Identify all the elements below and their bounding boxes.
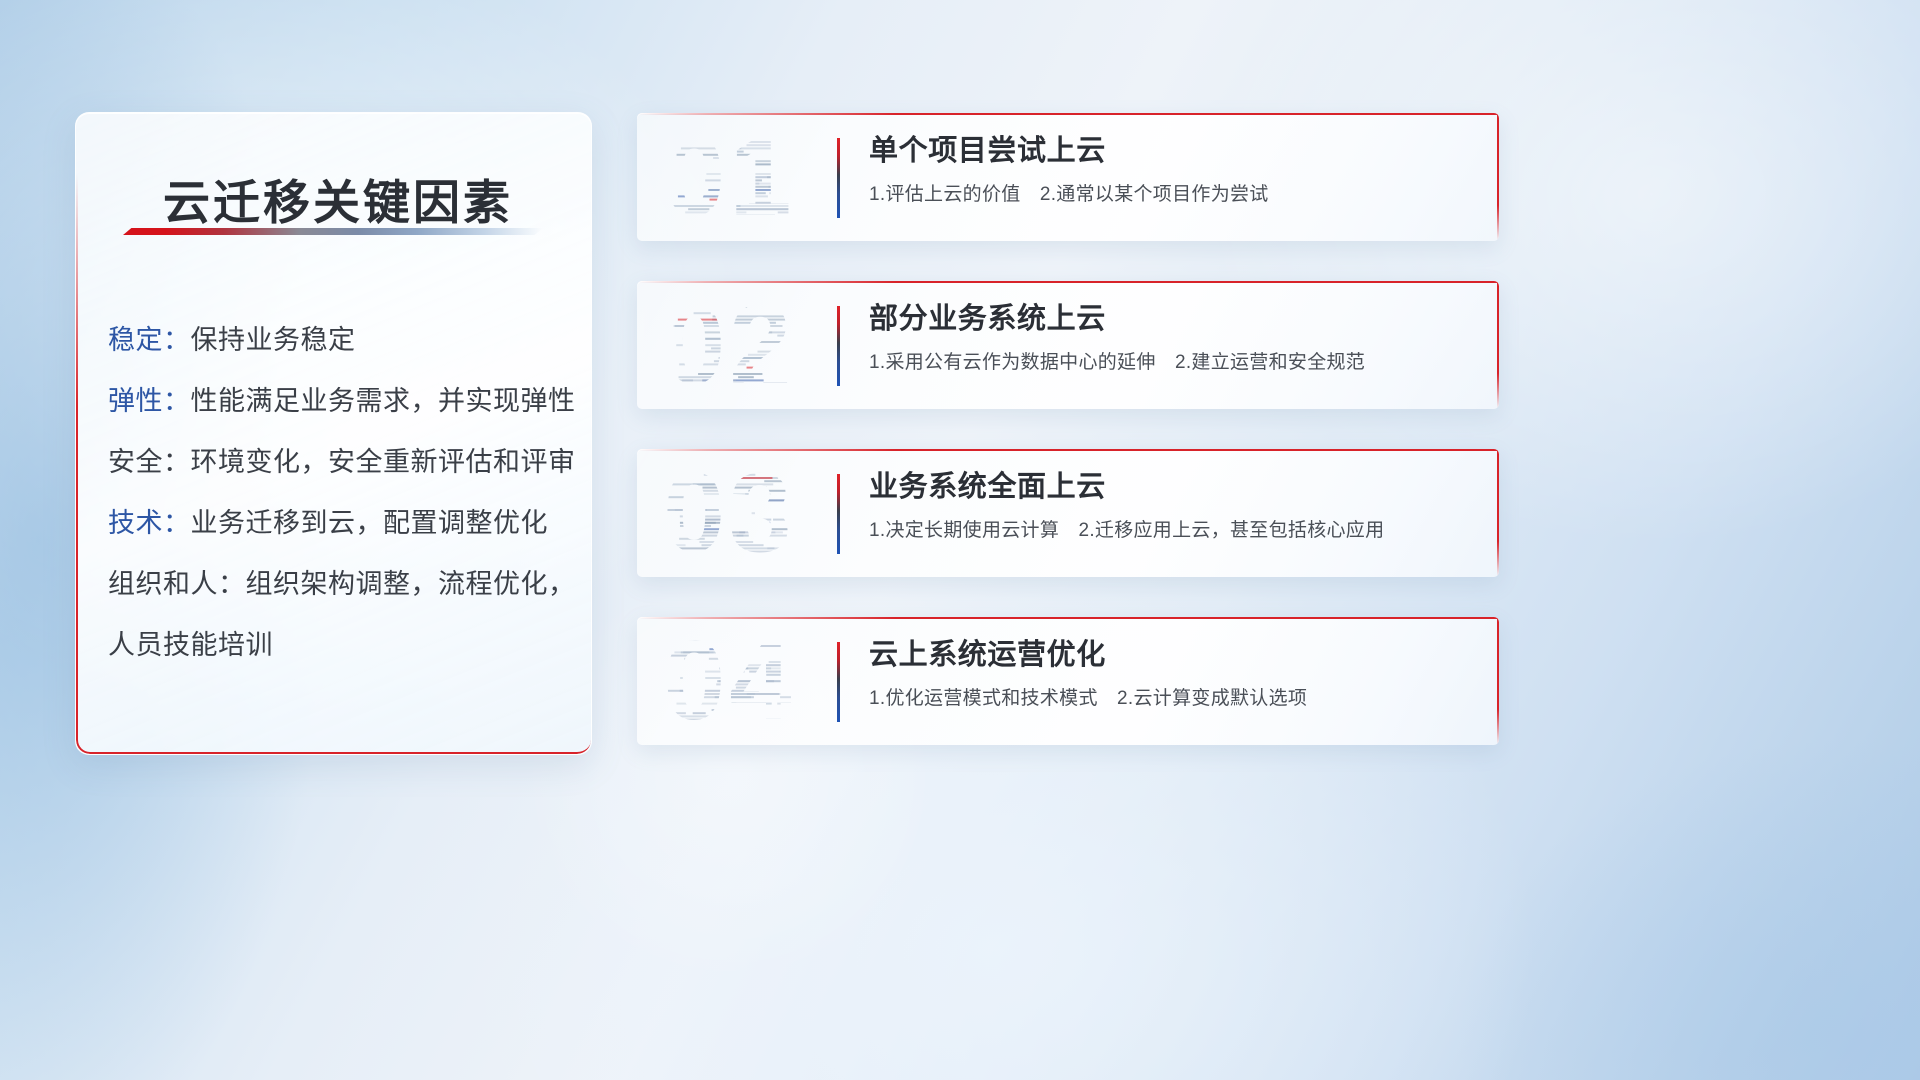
- list-item: 技术：业务迁移到云，配置调整优化: [108, 493, 578, 554]
- list-item: 稳定：保持业务稳定: [108, 310, 578, 371]
- list-item: 弹性：性能满足业务需求，并实现弹性: [108, 371, 578, 432]
- step-text-block: 业务系统全面上云 1.决定长期使用云计算 2.迁移应用上云，甚至包括核心应用: [869, 467, 1475, 544]
- step-text-block: 云上系统运营优化 1.优化运营模式和技术模式 2.云计算变成默认选项: [869, 635, 1475, 712]
- factor-key: 技术：: [108, 508, 191, 538]
- title-underline-gradient: [123, 228, 543, 235]
- step-body: 1.评估上云的价值 2.通常以某个项目作为尝试: [869, 182, 1475, 208]
- step-divider-bar: [837, 474, 840, 554]
- key-factors-list: 稳定：保持业务稳定 弹性：性能满足业务需求，并实现弹性 安全：环境变化，安全重新…: [108, 310, 578, 676]
- step-card[interactable]: 04 云上系统运营优化 1.优化运营模式和技术模式 2.云计算变成默认选项: [637, 617, 1499, 745]
- step-heading: 云上系统运营优化: [869, 635, 1475, 675]
- key-factors-panel: 云迁移关键因素 稳定：保持业务稳定 弹性：性能满足业务需求，并实现弹性 安全：环…: [75, 112, 592, 755]
- step-divider-bar: [837, 138, 840, 218]
- step-number-glyph: 03: [663, 457, 843, 569]
- step-divider-bar: [837, 306, 840, 386]
- factor-value: 环境变化，安全重新评估和评审: [191, 447, 576, 477]
- step-card[interactable]: 03 业务系统全面上云 1.决定长期使用云计算 2.迁移应用上云，甚至包括核心应…: [637, 449, 1499, 577]
- migration-steps-list: 01 单个项目尝试上云 1.评估上云的价值 2.通常以某个项目作为尝试 02 部…: [637, 113, 1499, 785]
- step-card[interactable]: 02 部分业务系统上云 1.采用公有云作为数据中心的延伸 2.建立运营和安全规范: [637, 281, 1499, 409]
- factor-key: 稳定：: [108, 325, 191, 355]
- step-heading: 单个项目尝试上云: [869, 131, 1475, 171]
- step-number-glyph: 04: [663, 625, 843, 737]
- step-heading: 业务系统全面上云: [869, 467, 1475, 507]
- step-divider-bar: [837, 642, 840, 722]
- step-body: 1.优化运营模式和技术模式 2.云计算变成默认选项: [869, 686, 1475, 712]
- step-heading: 部分业务系统上云: [869, 299, 1475, 339]
- factor-key: 安全：: [108, 447, 191, 477]
- factor-key: 弹性：: [108, 386, 191, 416]
- step-text-block: 单个项目尝试上云 1.评估上云的价值 2.通常以某个项目作为尝试: [869, 131, 1475, 208]
- step-number-glyph: 01: [663, 121, 843, 233]
- factor-value: 性能满足业务需求，并实现弹性: [191, 386, 576, 416]
- list-item: 组织和人：组织架构调整，流程优化，人员技能培训: [108, 554, 578, 676]
- step-text-block: 部分业务系统上云 1.采用公有云作为数据中心的延伸 2.建立运营和安全规范: [869, 299, 1475, 376]
- step-card[interactable]: 01 单个项目尝试上云 1.评估上云的价值 2.通常以某个项目作为尝试: [637, 113, 1499, 241]
- factor-value: 业务迁移到云，配置调整优化: [191, 508, 549, 538]
- page-title: 云迁移关键因素: [163, 164, 513, 233]
- step-number-glyph: 02: [663, 289, 843, 401]
- factor-key: 组织和人：: [108, 569, 246, 599]
- list-item: 安全：环境变化，安全重新评估和评审: [108, 432, 578, 493]
- step-body: 1.采用公有云作为数据中心的延伸 2.建立运营和安全规范: [869, 350, 1475, 376]
- factor-value: 保持业务稳定: [191, 325, 356, 355]
- step-body: 1.决定长期使用云计算 2.迁移应用上云，甚至包括核心应用: [869, 518, 1475, 544]
